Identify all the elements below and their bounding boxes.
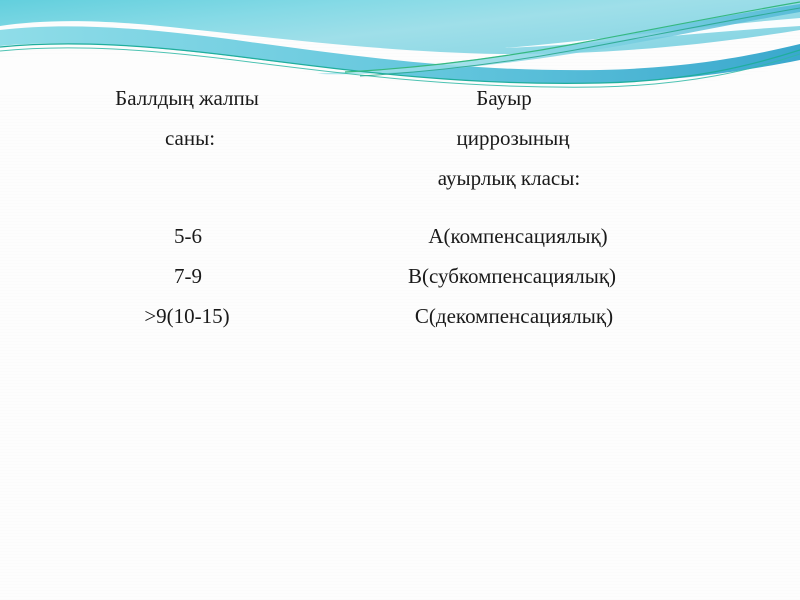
- cell-severity-c: С(декомпенсациялық): [332, 296, 682, 336]
- header-severity-line-3: ауырлық класы:: [332, 158, 682, 198]
- header-severity-line-2: циррозының: [332, 118, 682, 158]
- slide-content: Баллдың жалпы саны: Бауыр циррозының ауы…: [0, 78, 800, 336]
- header-score-line-1: Баллдың жалпы: [42, 78, 332, 118]
- cell-score-b: 7-9: [42, 256, 332, 296]
- spacer-cell-right: [332, 198, 682, 216]
- table-row: >9(10-15) С(декомпенсациялық): [42, 296, 682, 336]
- cell-severity-b: В(субкомпенсациялық): [332, 256, 682, 296]
- cell-severity-a: А(компенсациялық): [332, 216, 682, 256]
- table-row: 5-6 А(компенсациялық): [42, 216, 682, 256]
- cell-score-c: >9(10-15): [42, 296, 332, 336]
- cirrhosis-score-table: Баллдың жалпы саны: Бауыр циррозының ауы…: [42, 78, 682, 336]
- table-row: 7-9 В(субкомпенсациялық): [42, 256, 682, 296]
- table-spacer-row: [42, 198, 682, 216]
- spacer-cell-left: [42, 198, 332, 216]
- header-severity-line-1: Бауыр: [332, 78, 682, 118]
- header-score-line-2: саны:: [42, 118, 332, 158]
- cell-score-a: 5-6: [42, 216, 332, 256]
- header-cell-severity: Бауыр циррозының ауырлық класы:: [332, 78, 682, 198]
- table-header-row: Баллдың жалпы саны: Бауыр циррозының ауы…: [42, 78, 682, 198]
- slide-canvas: Баллдың жалпы саны: Бауыр циррозының ауы…: [0, 0, 800, 600]
- header-cell-score: Баллдың жалпы саны:: [42, 78, 332, 198]
